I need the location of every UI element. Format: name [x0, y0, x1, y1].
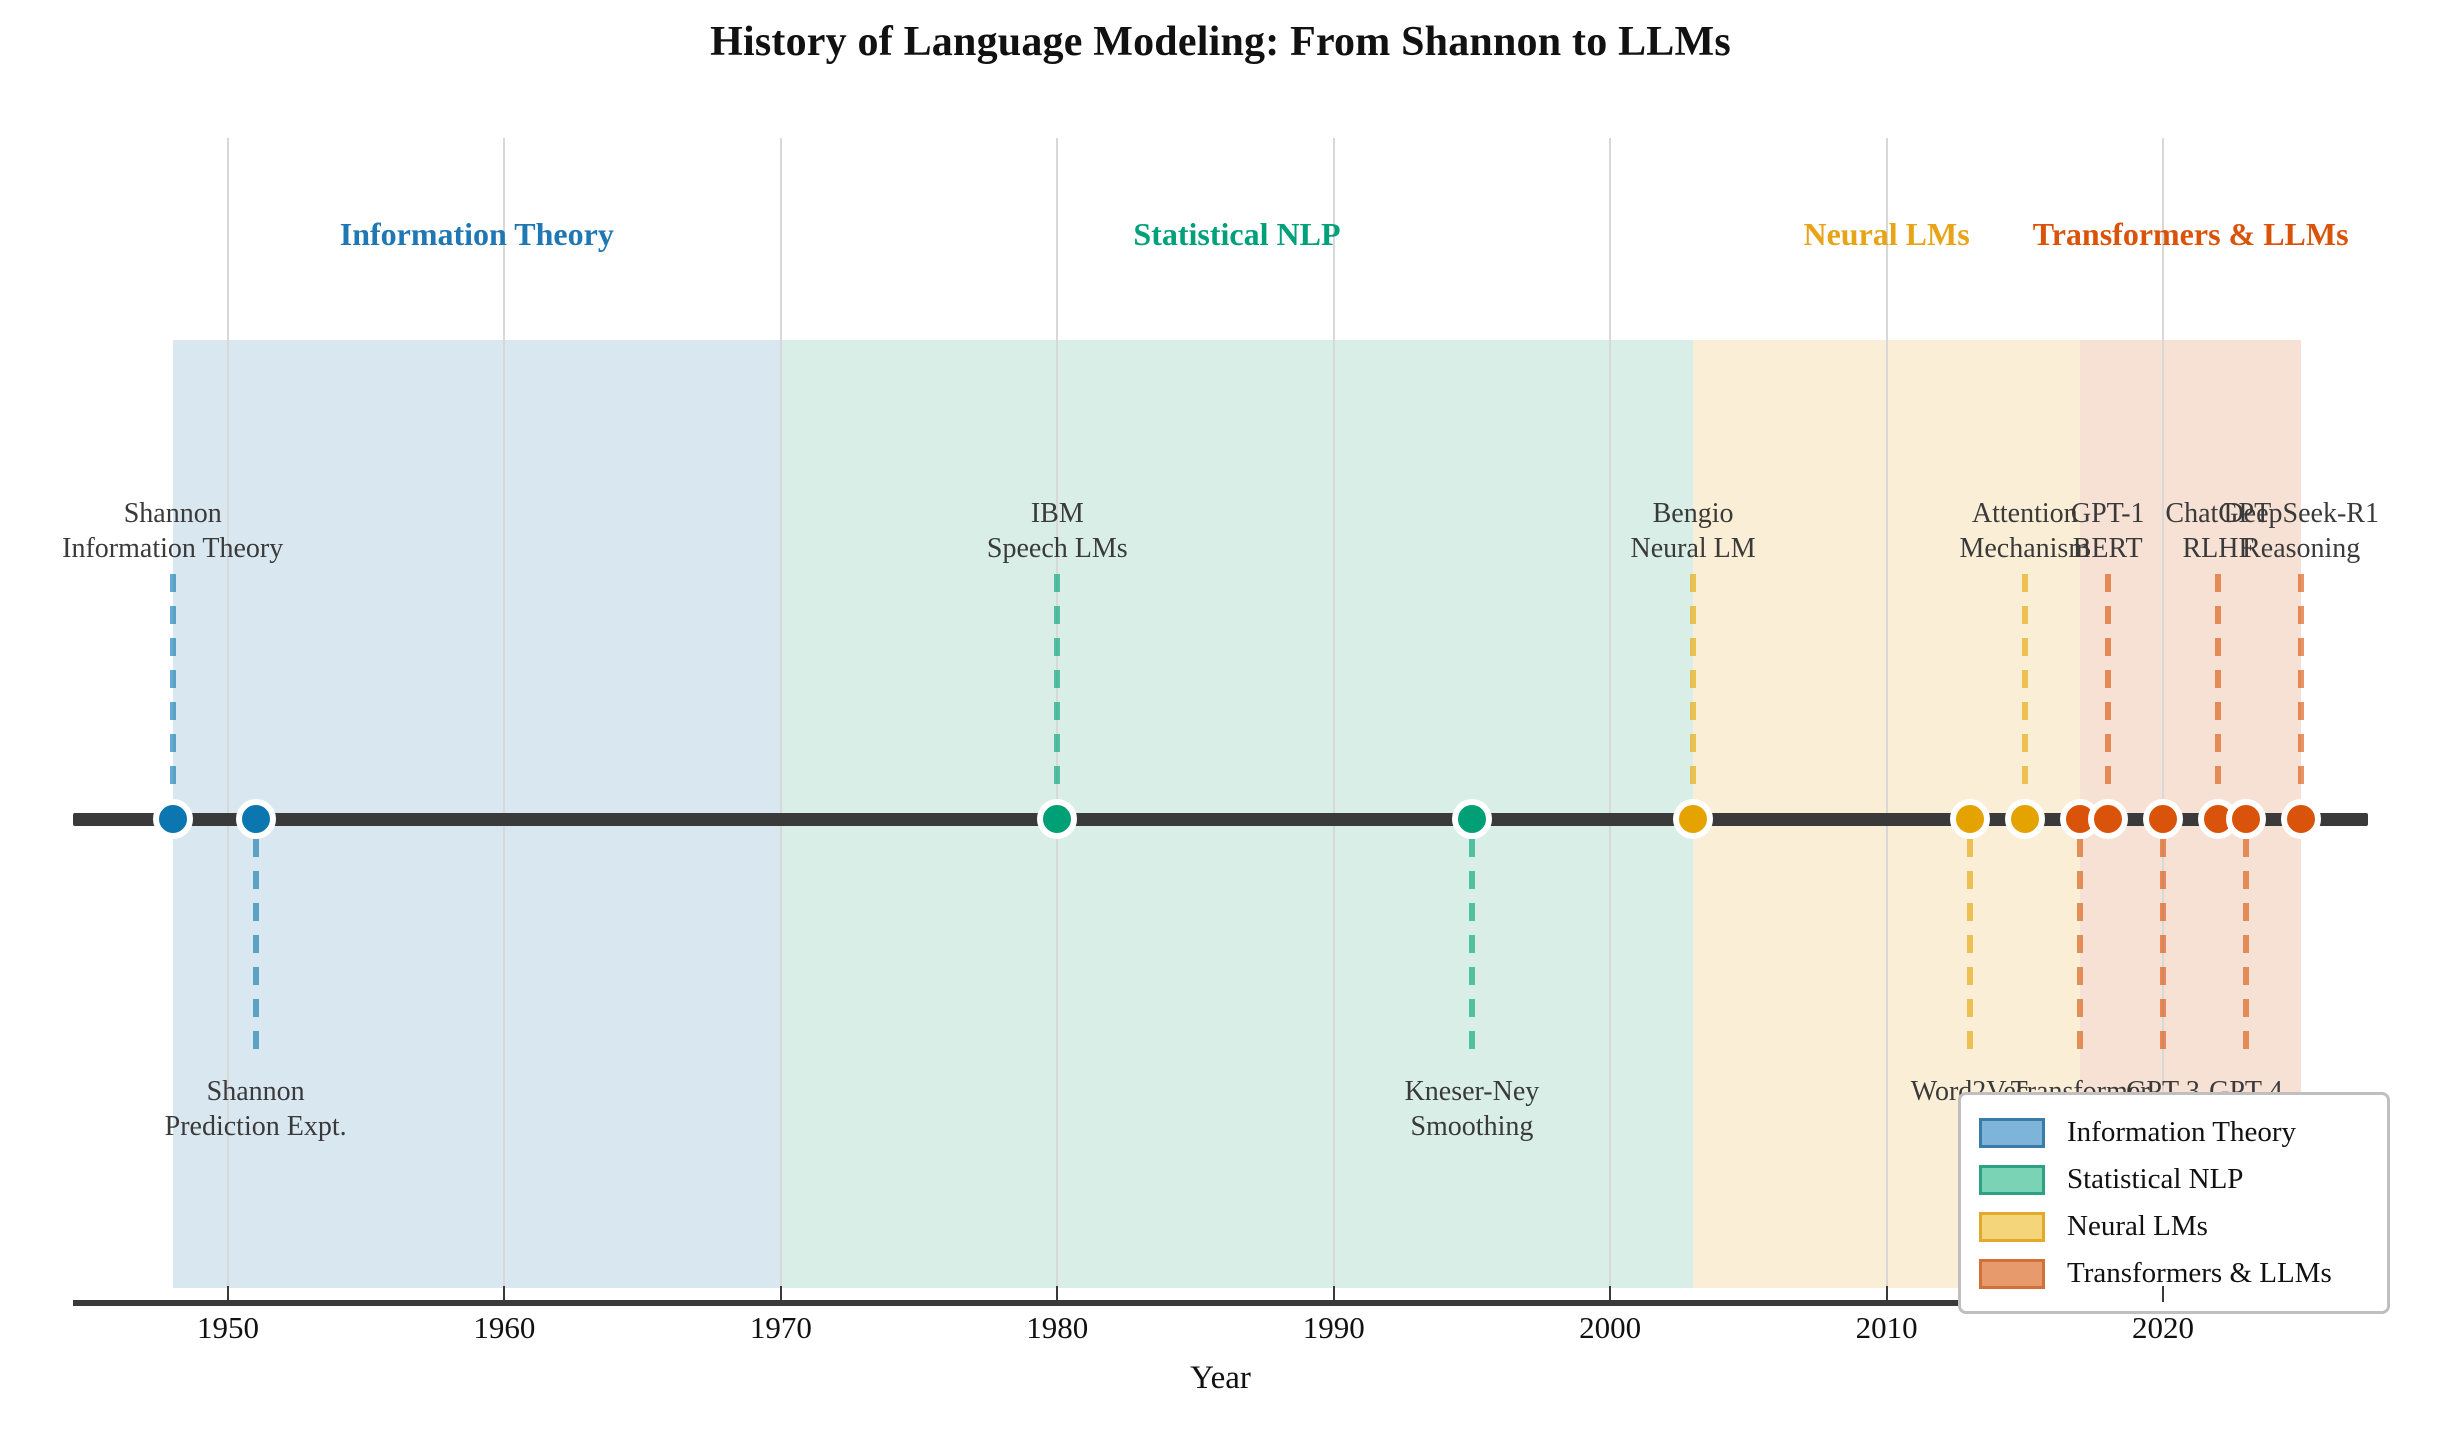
x-axis-title: Year [0, 1360, 2441, 1397]
x-tick-label-2000: 2000 [1579, 1310, 1641, 1346]
x-tick-label-1970: 1970 [750, 1310, 812, 1346]
event-marker[interactable] [1452, 799, 1492, 839]
era-label-2: Neural LMs [1803, 216, 1969, 253]
event-label: GPT-1BERT [2071, 496, 2145, 566]
x-tick-2020 [2162, 1286, 2164, 1302]
legend: Information TheoryStatistical NLPNeural … [1958, 1092, 2390, 1314]
legend-label-3: Transformers & LLMs [2067, 1257, 2332, 1290]
legend-swatch-2 [1979, 1212, 2045, 1242]
event-marker[interactable] [1037, 799, 1077, 839]
event-label: ShannonPrediction Expt. [165, 1074, 347, 1144]
event-marker[interactable] [2143, 799, 2183, 839]
legend-swatch-1 [1979, 1165, 2045, 1195]
gridline-1970 [780, 138, 782, 1300]
event-stem-10 [2215, 574, 2221, 799]
legend-swatch-3 [1979, 1259, 2045, 1289]
event-stem-5 [1967, 839, 1973, 1064]
gridline-2010 [1886, 138, 1888, 1300]
x-tick-2000 [1609, 1286, 1611, 1302]
event-label: DeepSeek-R1Reasoning [2223, 496, 2379, 566]
x-tick-label-1990: 1990 [1303, 1310, 1365, 1346]
x-tick-label-1960: 1960 [473, 1310, 535, 1346]
event-label-line: IBM [987, 496, 1128, 531]
legend-item-1[interactable]: Statistical NLP [1979, 1156, 2369, 1203]
event-label-line: Shannon [62, 496, 283, 531]
legend-swatch-0 [1979, 1118, 2045, 1148]
x-tick-label-2020: 2020 [2132, 1310, 2194, 1346]
gridline-1990 [1333, 138, 1335, 1300]
x-tick-1970 [780, 1286, 782, 1302]
x-tick-label-2010: 2010 [1856, 1310, 1918, 1346]
event-marker[interactable] [2226, 799, 2266, 839]
event-marker[interactable] [236, 799, 276, 839]
event-stem-9 [2160, 839, 2166, 1064]
event-label-line: BERT [2071, 531, 2145, 566]
event-marker[interactable] [153, 799, 193, 839]
event-stem-4 [1690, 574, 1696, 799]
x-tick-label-1950: 1950 [197, 1310, 259, 1346]
event-label-line: Speech LMs [987, 531, 1128, 566]
event-marker[interactable] [2281, 799, 2321, 839]
event-label-line: Reasoning [2223, 531, 2379, 566]
legend-item-0[interactable]: Information Theory [1979, 1109, 2369, 1156]
event-label: Kneser-NeySmoothing [1405, 1074, 1540, 1144]
event-label-line: Smoothing [1405, 1109, 1540, 1144]
legend-label-0: Information Theory [2067, 1116, 2296, 1149]
event-stem-8 [2105, 574, 2111, 799]
event-label-line: Shannon [165, 1074, 347, 1109]
legend-label-1: Statistical NLP [2067, 1163, 2243, 1196]
event-label-line: Kneser-Ney [1405, 1074, 1540, 1109]
x-tick-1950 [227, 1286, 229, 1302]
event-label-line: DeepSeek-R1 [2223, 496, 2379, 531]
event-label-line: GPT-1 [2071, 496, 2145, 531]
legend-label-2: Neural LMs [2067, 1210, 2208, 1243]
chart-canvas: History of Language Modeling: From Shann… [0, 0, 2441, 1440]
era-label-3: Transformers & LLMs [2033, 216, 2349, 253]
event-label-line: Prediction Expt. [165, 1109, 347, 1144]
event-marker[interactable] [2005, 799, 2045, 839]
event-marker[interactable] [2088, 799, 2128, 839]
event-stem-7 [2077, 839, 2083, 1064]
x-tick-2010 [1886, 1286, 1888, 1302]
event-stem-2 [1054, 574, 1060, 799]
x-tick-1990 [1333, 1286, 1335, 1302]
x-tick-1980 [1056, 1286, 1058, 1302]
event-label-line: Neural LM [1630, 531, 1755, 566]
event-label: BengioNeural LM [1630, 496, 1755, 566]
event-label: IBMSpeech LMs [987, 496, 1128, 566]
event-stem-1 [253, 839, 259, 1064]
event-marker[interactable] [1673, 799, 1713, 839]
legend-item-3[interactable]: Transformers & LLMs [1979, 1250, 2369, 1297]
event-stem-12 [2298, 574, 2304, 799]
event-stem-0 [170, 574, 176, 799]
event-marker[interactable] [1950, 799, 1990, 839]
era-label-1: Statistical NLP [1133, 216, 1340, 253]
event-label: ShannonInformation Theory [62, 496, 283, 566]
event-stem-6 [2022, 574, 2028, 799]
event-label-line: Bengio [1630, 496, 1755, 531]
event-stem-3 [1469, 839, 1475, 1064]
era-label-0: Information Theory [340, 216, 614, 253]
event-stem-11 [2243, 839, 2249, 1064]
event-label-line: Information Theory [62, 531, 283, 566]
legend-item-2[interactable]: Neural LMs [1979, 1203, 2369, 1250]
gridline-2000 [1609, 138, 1611, 1300]
gridline-1960 [503, 138, 505, 1300]
x-tick-label-1980: 1980 [1026, 1310, 1088, 1346]
x-tick-1960 [503, 1286, 505, 1302]
